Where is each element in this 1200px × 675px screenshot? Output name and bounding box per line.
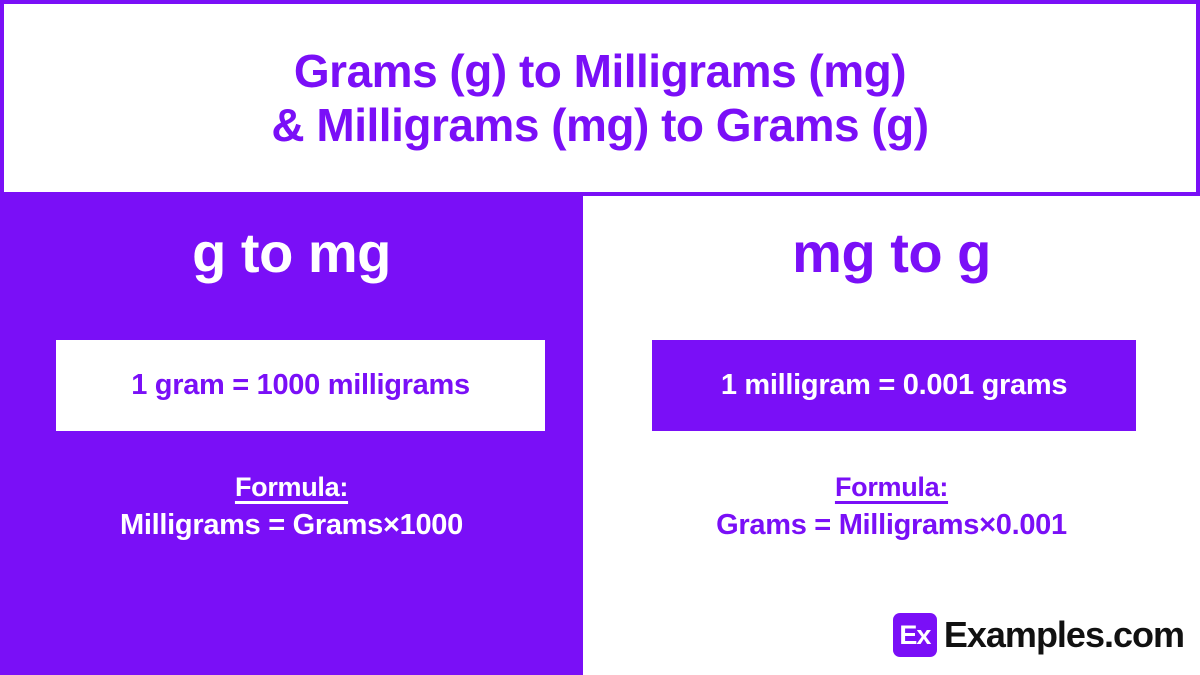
examples-logo-icon: Ex xyxy=(893,613,937,657)
formula-expression-g-to-mg: Milligrams = Grams×1000 xyxy=(0,509,583,542)
page-title-line-1: Grams (g) to Milligrams (mg) xyxy=(294,44,906,98)
header-title-box: Grams (g) to Milligrams (mg) & Milligram… xyxy=(0,0,1200,196)
formula-label-g-to-mg: Formula: xyxy=(235,472,348,503)
page-title-line-2: & Milligrams (mg) to Grams (g) xyxy=(271,98,928,152)
fact-text-g-to-mg: 1 gram = 1000 milligrams xyxy=(131,369,470,402)
formula-label-mg-to-g: Formula: xyxy=(835,472,948,503)
examples-logo[interactable]: Ex Examples.com xyxy=(893,613,1184,657)
examples-logo-text: Examples.com xyxy=(944,614,1184,656)
fact-text-mg-to-g: 1 milligram = 0.001 grams xyxy=(721,369,1067,402)
fact-box-mg-to-g: 1 milligram = 0.001 grams xyxy=(652,340,1136,431)
formula-expression-mg-to-g: Grams = Milligrams×0.001 xyxy=(583,509,1200,542)
panel-heading-g-to-mg: g to mg xyxy=(192,222,391,284)
conversion-panels: g to mg 1 gram = 1000 milligrams Formula… xyxy=(0,196,1200,675)
formula-block-g-to-mg: Formula: Milligrams = Grams×1000 xyxy=(0,472,583,542)
panel-mg-to-g: mg to g 1 milligram = 0.001 grams Formul… xyxy=(583,196,1200,675)
panel-heading-mg-to-g: mg to g xyxy=(792,222,991,284)
panel-g-to-mg: g to mg 1 gram = 1000 milligrams Formula… xyxy=(0,196,583,675)
formula-block-mg-to-g: Formula: Grams = Milligrams×0.001 xyxy=(583,472,1200,542)
infographic-root: Grams (g) to Milligrams (mg) & Milligram… xyxy=(0,0,1200,675)
fact-box-g-to-mg: 1 gram = 1000 milligrams xyxy=(56,340,545,431)
